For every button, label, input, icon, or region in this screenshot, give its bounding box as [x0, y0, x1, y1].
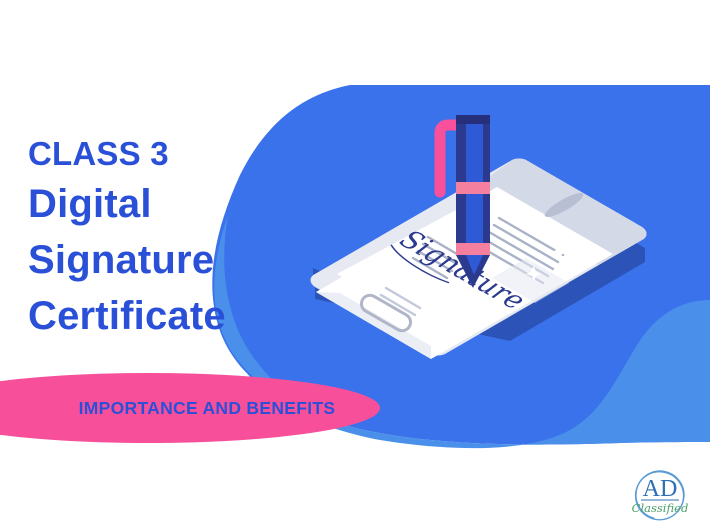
headline-line-3: Signature [28, 232, 328, 288]
pen-band-upper [456, 182, 490, 194]
badge-label: IMPORTANCE AND BENEFITS [57, 373, 357, 443]
logo-primary-text: AD [643, 476, 678, 502]
headline-line-4: Certificate [28, 288, 328, 344]
headline-line-2: Digital [28, 176, 328, 232]
pen-band-lower [456, 243, 490, 255]
headline-block: CLASS 3 Digital Signature Certificate [28, 132, 328, 344]
logo-secondary-text: Classified [632, 501, 689, 515]
promotional-banner: Signature CLASS 3 Digital Signature Cert [0, 0, 710, 530]
headline-line-1: CLASS 3 [28, 132, 328, 176]
pen-cap [456, 115, 490, 124]
ad-classified-logo[interactable]: AD Classified [627, 466, 693, 524]
badge-pill: IMPORTANCE AND BENEFITS [0, 373, 380, 443]
